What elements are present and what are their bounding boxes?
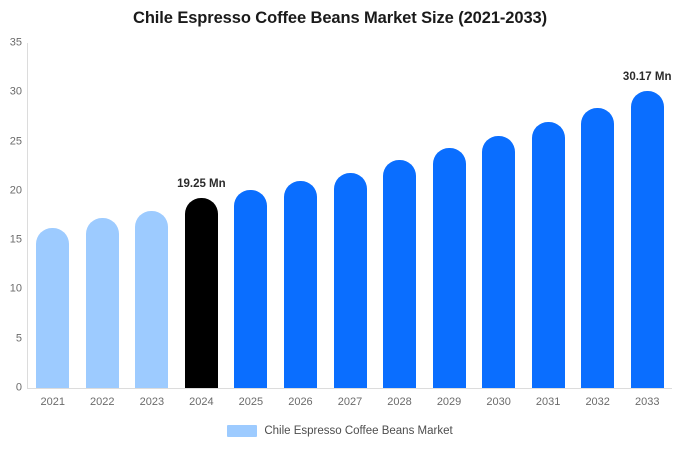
x-axis-tick-label: 2026 — [272, 396, 328, 408]
legend-swatch-icon — [227, 425, 257, 437]
bar-group[interactable] — [433, 43, 466, 388]
bar-group[interactable]: 30.17 Mn — [631, 43, 664, 388]
x-axis-tick-label: 2023 — [124, 396, 180, 408]
x-axis-tick-label: 2031 — [520, 396, 576, 408]
bar-2025[interactable] — [234, 190, 267, 388]
plot-area: 19.25 Mn30.17 Mn — [28, 43, 672, 388]
x-axis-line — [27, 388, 672, 389]
bar-2028[interactable] — [383, 160, 416, 388]
y-axis-tick-label: 15 — [0, 235, 22, 246]
y-axis-tick-label: 5 — [0, 333, 22, 344]
bar-2023[interactable] — [135, 211, 168, 388]
bar-2032[interactable] — [581, 108, 614, 388]
x-axis-tick-label: 2028 — [372, 396, 428, 408]
bar-2024[interactable] — [185, 198, 218, 388]
y-axis-tick-label: 25 — [0, 136, 22, 147]
bar-group[interactable] — [334, 43, 367, 388]
x-axis-tick-label: 2033 — [619, 396, 675, 408]
y-axis-tick-label: 20 — [0, 185, 22, 196]
bar-2029[interactable] — [433, 148, 466, 389]
x-axis-tick-label: 2030 — [471, 396, 527, 408]
bar-2031[interactable] — [532, 122, 565, 388]
bar-2026[interactable] — [284, 181, 317, 388]
x-axis-tick-label: 2027 — [322, 396, 378, 408]
x-axis-tick-label: 2022 — [74, 396, 130, 408]
bar-group[interactable] — [581, 43, 614, 388]
y-axis-tick-label: 35 — [0, 38, 22, 49]
x-axis-tick-label: 2029 — [421, 396, 477, 408]
bar-value-label: 30.17 Mn — [623, 71, 672, 83]
bar-chart: Chile Espresso Coffee Beans Market Size … — [0, 0, 680, 450]
y-axis-tick-labels: 05101520253035 — [0, 0, 22, 450]
bar-value-label: 19.25 Mn — [177, 178, 226, 190]
x-axis-tick-label: 2024 — [173, 396, 229, 408]
bar-2022[interactable] — [86, 218, 119, 388]
bar-2030[interactable] — [482, 136, 515, 388]
bar-2021[interactable] — [36, 228, 69, 388]
chart-title: Chile Espresso Coffee Beans Market Size … — [0, 9, 680, 28]
y-axis-tick-label: 30 — [0, 87, 22, 98]
bar-group[interactable] — [86, 43, 119, 388]
bar-2027[interactable] — [334, 173, 367, 388]
bar-group[interactable] — [135, 43, 168, 388]
y-axis-tick-label: 0 — [0, 383, 22, 394]
bar-2033[interactable] — [631, 91, 664, 388]
x-axis-tick-label: 2021 — [25, 396, 81, 408]
bar-group[interactable] — [383, 43, 416, 388]
bar-group[interactable] — [234, 43, 267, 388]
bar-group[interactable] — [482, 43, 515, 388]
x-axis-tick-label: 2025 — [223, 396, 279, 408]
bar-group[interactable] — [284, 43, 317, 388]
bar-group[interactable] — [36, 43, 69, 388]
legend-item-label: Chile Espresso Coffee Beans Market — [264, 425, 452, 437]
chart-legend: Chile Espresso Coffee Beans Market — [0, 425, 680, 437]
y-axis-tick-label: 10 — [0, 284, 22, 295]
bar-group[interactable] — [532, 43, 565, 388]
bar-group[interactable]: 19.25 Mn — [185, 43, 218, 388]
x-axis-tick-label: 2032 — [570, 396, 626, 408]
